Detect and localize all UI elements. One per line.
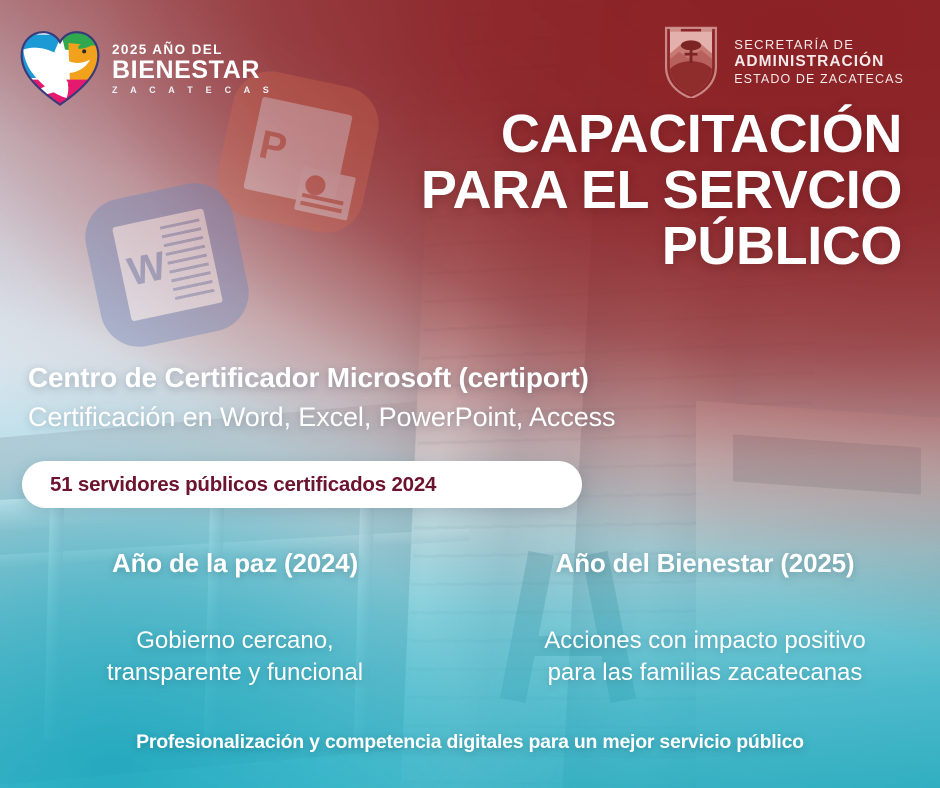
secretaria-line-1: SECRETARÍA DE <box>734 37 904 53</box>
word-icon: W <box>78 176 256 354</box>
word-icon-letter: W <box>124 246 169 293</box>
two-column-section: Año de la paz (2024) Gobierno cercano, t… <box>0 548 940 688</box>
certified-count-badge-label: 51 servidores públicos certificados 2024 <box>50 473 436 497</box>
bienestar-line-3: Z A C A T E C A S <box>112 86 274 95</box>
secretaria-line-3: ESTADO DE ZACATECAS <box>734 72 904 87</box>
column-ano-del-bienestar: Año del Bienestar (2025) Acciones con im… <box>470 548 940 688</box>
page-title-line-3: PÚBLICO <box>342 218 902 274</box>
page-title-line-2: PARA EL SERVCIO <box>342 162 902 218</box>
powerpoint-icon-letter: P <box>256 124 290 169</box>
column-ano-del-bienestar-body: Acciones con impacto positivo para las f… <box>470 625 940 688</box>
lead-subheading: Certificación en Word, Excel, PowerPoint… <box>28 402 908 433</box>
zacatecas-shield-icon <box>662 26 720 98</box>
secretaria-line-2: ADMINISTRACIÓN <box>734 53 904 72</box>
page-title-line-1: CAPACITACIÓN <box>342 106 902 162</box>
heart-dove-icon <box>18 28 102 108</box>
column-ano-de-la-paz: Año de la paz (2024) Gobierno cercano, t… <box>0 548 470 688</box>
word-icon-lines <box>160 218 214 302</box>
secretaria-brand-lockup: SECRETARÍA DE ADMINISTRACIÓN ESTADO DE Z… <box>662 26 904 98</box>
bienestar-brand-lockup: 2025 AÑO DEL BIENESTAR Z A C A T E C A S <box>18 28 274 108</box>
column-ano-de-la-paz-body: Gobierno cercano, transparente y funcion… <box>0 625 470 688</box>
poster-canvas: P W <box>0 0 940 788</box>
bienestar-line-1: 2025 AÑO DEL <box>112 43 274 57</box>
column-ano-del-bienestar-heading: Año del Bienestar (2025) <box>470 548 940 579</box>
lead-heading: Centro de Certificador Microsoft (certip… <box>28 362 908 394</box>
page-title: CAPACITACIÓN PARA EL SERVCIO PÚBLICO <box>342 106 902 274</box>
footer-tagline: Profesionalización y competencia digital… <box>0 731 940 754</box>
column-ano-de-la-paz-heading: Año de la paz (2024) <box>0 548 470 579</box>
bienestar-line-2: BIENESTAR <box>112 58 274 83</box>
lead-block: Centro de Certificador Microsoft (certip… <box>28 362 908 433</box>
certified-count-badge: 51 servidores públicos certificados 2024 <box>22 461 582 508</box>
